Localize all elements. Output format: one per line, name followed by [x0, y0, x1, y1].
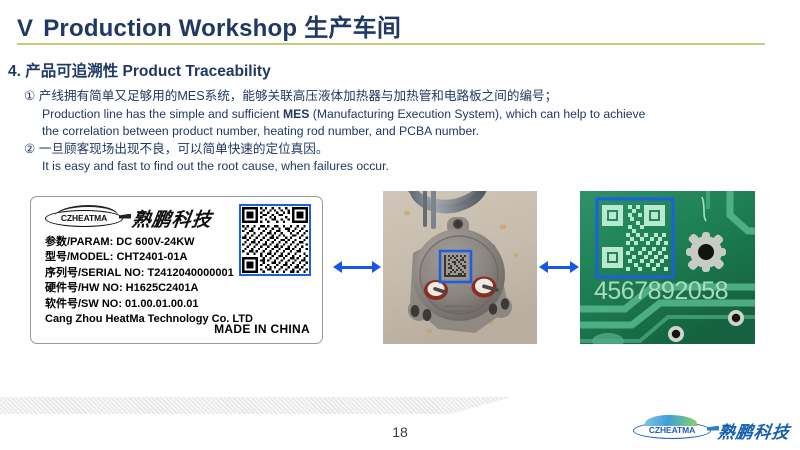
arrow-shaft [548, 266, 570, 269]
page-title-english: Production Workshop [43, 15, 297, 42]
product-label-card: CZHEATMA 熟鹏科技 [30, 196, 323, 344]
arrow-head-right-icon [570, 261, 579, 273]
arrow-head-left-icon [539, 261, 548, 273]
logo-wordmark: CZHEATMA [633, 422, 711, 439]
bullet-2-english: It is easy and fast to find out the root… [24, 158, 764, 176]
footer-decorative-band [0, 397, 512, 414]
label-made-in-china: MADE IN CHINA [214, 322, 310, 336]
logo-wordmark: CZHEATMA [45, 210, 123, 227]
heater-photo-image [383, 191, 537, 344]
mes-emphasis: MES [283, 107, 309, 121]
label-row-hw-no: 硬件号/HW NO: H1625C2401A [45, 281, 253, 296]
section-heading: 4. 产品可追溯性 Product Traceability [8, 59, 271, 81]
pcba-photo: 4567892058 [580, 191, 755, 344]
czheatma-oval-logo-icon: CZHEATMA [633, 422, 711, 439]
bullet-2-chinese: ② 一旦顾客现场出现不良，可以简单快速的定位真因。 [24, 141, 764, 159]
arrow-heater-to-pcb [539, 261, 579, 273]
bullet-1-english-segment-2: (Manufacturing Execution System), which … [309, 107, 645, 121]
label-brand-lockup: CZHEATMA 熟鹏科技 [45, 205, 212, 231]
heater-component-photo [383, 191, 537, 344]
arrow-head-right-icon [372, 261, 381, 273]
label-spec-lines: 参数/PARAM: DC 600V-24KW 型号/MODEL: CHT2401… [45, 235, 253, 327]
label-row-model: 型号/MODEL: CHT2401-01A [45, 250, 253, 265]
body-text-block: ① 产线拥有简单又足够用的MES系统，能够关联高压液体加热器与加热管和电路板之间… [24, 88, 764, 176]
page-title-chinese: 生产车间 [304, 15, 401, 42]
page-title: VProduction Workshop生产车间 [17, 8, 401, 43]
title-divider [17, 43, 765, 45]
arrow-head-left-icon [333, 261, 342, 273]
arrow-label-to-heater [333, 261, 381, 273]
bullet-1-english-segment-1: Production line has the simple and suffi… [42, 107, 283, 121]
footer-brand-chinese: 熟鹏科技 [716, 418, 792, 443]
footer-brand-lockup: CZHEATMA 熟鹏科技 [633, 418, 790, 442]
label-brand-chinese: 熟鹏科技 [130, 205, 214, 232]
bullet-1-chinese: ① 产线拥有简单又足够用的MES系统，能够关联高压液体加热器与加热管和电路板之间… [24, 88, 764, 106]
page-title-numeral: V [17, 15, 33, 42]
label-row-sw-no: 软件号/SW NO: 01.00.01.00.01 [45, 297, 253, 312]
label-row-serial-no: 序列号/SERIAL NO: T2412040000001 [45, 266, 253, 281]
label-row-param: 参数/PARAM: DC 600V-24KW [45, 235, 253, 250]
bullet-1-english-line-2: the correlation between product number, … [24, 123, 764, 141]
pcba-printed-number-text: 4567892058 [594, 277, 728, 305]
czheatma-oval-logo-icon: CZHEATMA [45, 210, 123, 227]
pcba-photo-image: 4567892058 [580, 191, 755, 344]
bullet-1-english-line-1: Production line has the simple and suffi… [24, 106, 764, 124]
arrow-shaft [342, 266, 372, 269]
